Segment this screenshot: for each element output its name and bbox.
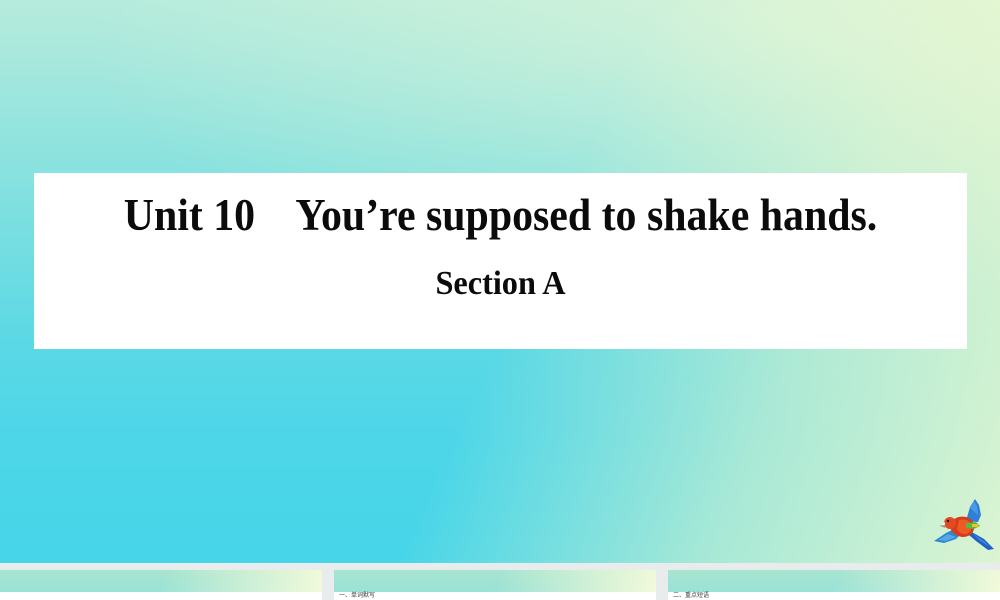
thumbnail-heading: 二、重点短语: [673, 593, 709, 600]
thumbnail-content-area: [668, 592, 1000, 600]
thumbnail-heading: 一、单词默写: [339, 593, 375, 600]
thumbnail-heading-text: 二、重点短语: [673, 593, 709, 599]
macaw-parrot-icon: [926, 495, 998, 557]
filmstrip-thumbnail-3[interactable]: 二、重点短语: [668, 570, 1000, 600]
slide-title: Unit 10 You’re supposed to shake hands.: [67, 187, 935, 243]
slide-canvas: Unit 10 You’re supposed to shake hands. …: [0, 0, 1000, 563]
slide-filmstrip[interactable]: 一、单词默写 二、重点短语: [0, 563, 1000, 600]
filmstrip-thumbnail-1[interactable]: [0, 570, 322, 600]
presentation-viewer: Unit 10 You’re supposed to shake hands. …: [0, 0, 1000, 600]
thumbnail-content-area: [0, 592, 322, 600]
filmstrip-thumbnail-2[interactable]: 一、单词默写: [334, 570, 656, 600]
thumbnail-content-area: [334, 592, 656, 600]
title-card: Unit 10 You’re supposed to shake hands. …: [34, 173, 967, 349]
thumbnail-heading-text: 一、单词默写: [339, 593, 375, 599]
slide-subtitle: Section A: [57, 263, 943, 305]
